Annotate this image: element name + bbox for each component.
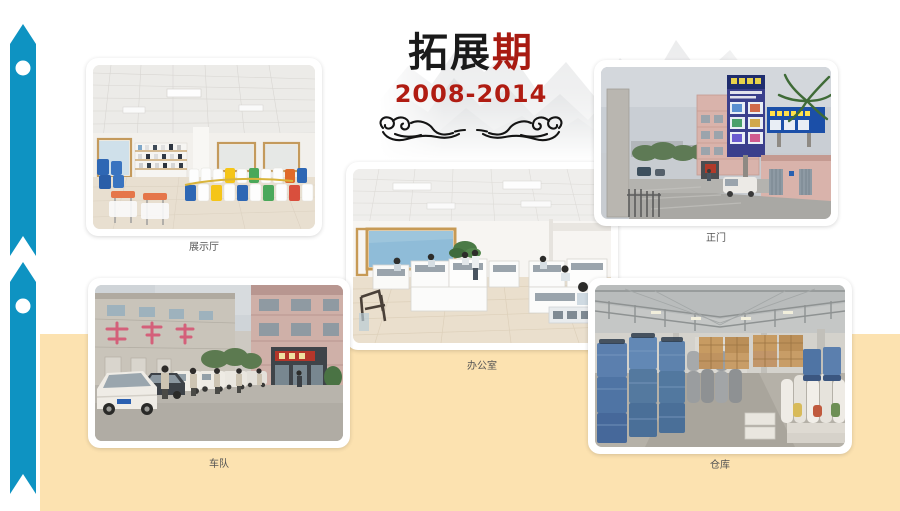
slide-canvas: 拓展期 2008-2014 bbox=[0, 0, 900, 511]
ribbon-lower-segment bbox=[10, 262, 36, 494]
photo-card-office[interactable] bbox=[346, 162, 618, 350]
photo-image-fleet bbox=[95, 285, 343, 441]
left-ribbon-decoration bbox=[10, 24, 36, 502]
caption-main-gate: 正门 bbox=[594, 229, 838, 244]
title-year-range: 2008-2014 bbox=[356, 80, 586, 108]
photo-image-office bbox=[353, 169, 611, 343]
title-text-black: 拓展 bbox=[408, 29, 492, 76]
title-block: 拓展期 2008-2014 bbox=[356, 32, 586, 146]
photo-card-fleet[interactable] bbox=[88, 278, 350, 448]
photo-image-main-gate bbox=[601, 67, 831, 219]
photo-image-showroom bbox=[93, 65, 315, 229]
photo-image-warehouse bbox=[595, 285, 845, 447]
caption-fleet: 车队 bbox=[88, 455, 350, 470]
caption-showroom: 展示厅 bbox=[86, 238, 322, 253]
title-text-accent: 期 bbox=[492, 29, 534, 76]
chinese-cloud-ornament-icon bbox=[371, 112, 571, 146]
caption-office: 办公室 bbox=[346, 357, 618, 372]
ribbon-upper-segment bbox=[10, 24, 36, 256]
photo-card-showroom[interactable] bbox=[86, 58, 322, 236]
photo-card-main-gate[interactable] bbox=[594, 60, 838, 226]
caption-warehouse: 仓库 bbox=[588, 456, 852, 471]
photo-card-warehouse[interactable] bbox=[588, 278, 852, 454]
page-title: 拓展期 bbox=[356, 32, 586, 74]
